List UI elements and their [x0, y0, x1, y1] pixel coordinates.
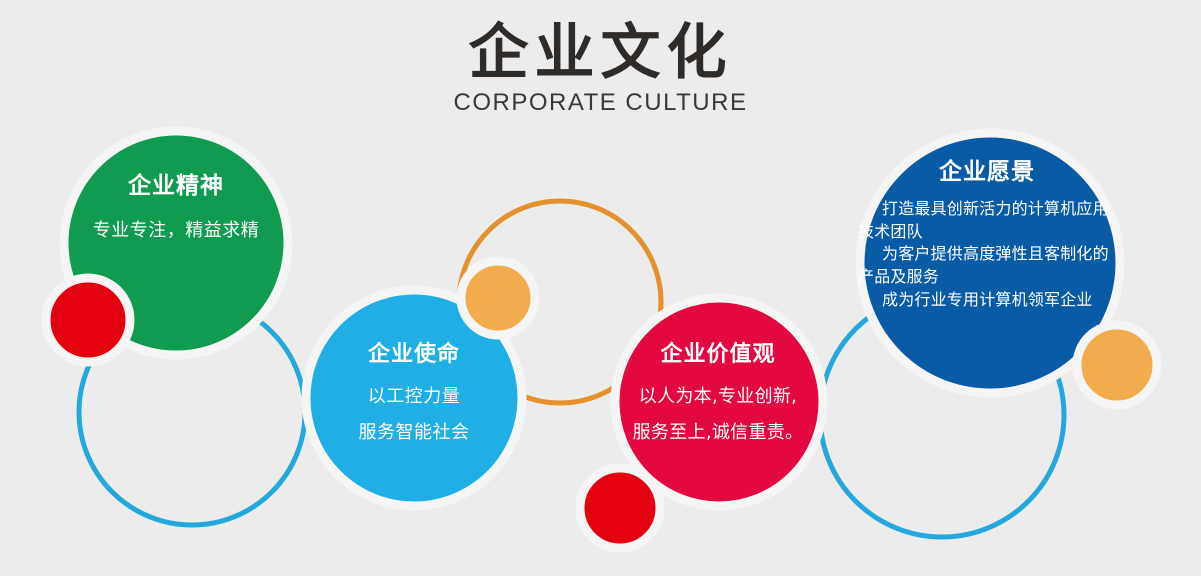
- orange-dot-right-icon: [1077, 325, 1157, 405]
- page-title: 企业文化: [0, 20, 1201, 87]
- red-dot-center-icon: [580, 468, 660, 548]
- corporate-culture-infographic: 企业文化 CORPORATE CULTURE 企业精神 专业专注，精益求精 企业…: [0, 0, 1201, 576]
- orange-dot-mid-icon: [461, 261, 535, 335]
- page-subtitle: CORPORATE CULTURE: [0, 89, 1201, 117]
- red-dot-left-icon: [46, 278, 130, 362]
- page-header: 企业文化 CORPORATE CULTURE: [0, 20, 1201, 117]
